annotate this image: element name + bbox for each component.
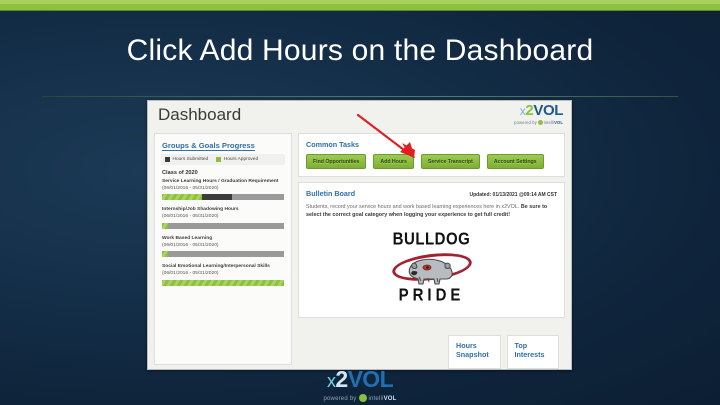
bulldog-mascot-icon bbox=[404, 249, 460, 289]
intellivol-dot-icon bbox=[538, 120, 543, 125]
bulldog-top-word: BULLDOG bbox=[378, 229, 486, 249]
footer-intellivol-dot-icon bbox=[359, 394, 367, 402]
bulletin-body-text: Students, record your service hours and … bbox=[306, 203, 557, 220]
legend-label-approved: Hours Approved bbox=[224, 157, 258, 162]
powered-by-text: powered by bbox=[514, 120, 537, 125]
intelli-text: intelli bbox=[544, 120, 554, 125]
bulletin-text-normal: Students, record your service hours and … bbox=[306, 204, 521, 210]
goal-progress-approved bbox=[162, 251, 168, 257]
dashboard-heading: Dashboard bbox=[158, 105, 241, 125]
bulletin-board-panel: Bulletin Board Updated: 01/13/2021 @09:1… bbox=[298, 182, 565, 318]
goal-progress-approved bbox=[162, 280, 284, 286]
page-title: Click Add Hours on the Dashboard bbox=[0, 34, 720, 68]
goal-progress-approved bbox=[162, 223, 168, 229]
x2vol-wordmark: x2VOL bbox=[514, 103, 563, 118]
powered-by-line: powered byintelliVOL bbox=[514, 120, 563, 125]
x2vol-logo-header: x2VOL powered byintelliVOL bbox=[514, 103, 563, 125]
bulldog-pride-logo: BULLDOG bbox=[378, 227, 486, 307]
dashboard-screenshot: Dashboard x2VOL powered byintelliVOL Gro… bbox=[147, 100, 572, 370]
legend-item-approved: Hours Approved bbox=[216, 157, 258, 162]
footer-intelli-text: intelli bbox=[369, 396, 384, 402]
intelli-vol-text: VOL bbox=[554, 120, 563, 125]
goal-dates: (06/01/2016 - 05/31/2020) bbox=[162, 214, 284, 221]
footer-logo-vol: VOL bbox=[348, 366, 393, 392]
groups-goals-title: Groups & Goals Progress bbox=[155, 134, 291, 154]
top-interests-title: Top Interests bbox=[515, 341, 552, 359]
goal-progress-approved bbox=[162, 194, 202, 200]
account-settings-button[interactable]: Account Settings bbox=[487, 154, 544, 169]
find-opportunities-button[interactable]: Find Opportunities bbox=[306, 154, 366, 169]
hours-snapshot-title: Hours Snapshot bbox=[456, 341, 493, 359]
legend-label-submitted: Hours Submitted bbox=[173, 157, 209, 162]
footer-powered-by-text: powered by bbox=[323, 396, 356, 402]
add-hours-button[interactable]: Add Hours bbox=[373, 154, 414, 169]
goal-item[interactable]: Service Learning Hours / Graduation Requ… bbox=[155, 179, 291, 207]
progress-legend: Hours Submitted Hours Approved bbox=[161, 154, 285, 165]
bottom-panels-row: Hours Snapshot Top Interests bbox=[448, 335, 559, 369]
slide-root: Click Add Hours on the Dashboard Dashboa… bbox=[0, 0, 720, 405]
footer-wordmark: x2VOL bbox=[0, 368, 720, 391]
goal-item[interactable]: Internship/Job Shadowing Hours (06/01/20… bbox=[155, 207, 291, 235]
goal-progress-bar bbox=[162, 223, 284, 229]
logo-vol: VOL bbox=[533, 102, 563, 119]
goal-name: Service Learning Hours / Graduation Requ… bbox=[162, 179, 284, 186]
goal-dates: (06/01/2016 - 05/31/2020) bbox=[162, 271, 284, 278]
service-transcript-button[interactable]: Service Transcript bbox=[421, 154, 480, 169]
bulletin-header: Bulletin Board Updated: 01/13/2021 @09:1… bbox=[306, 189, 557, 198]
bulletin-board-title: Bulletin Board bbox=[306, 189, 355, 198]
main-column: Common Tasks Find Opportunities Add Hour… bbox=[298, 133, 565, 365]
top-interests-panel: Top Interests bbox=[507, 335, 560, 369]
goal-item[interactable]: Social Emotional Learning/Interpersonal … bbox=[155, 264, 291, 292]
x2vol-logo-footer: x2VOL powered byintelliVOL bbox=[0, 368, 720, 402]
legend-swatch-submitted-icon bbox=[165, 157, 170, 162]
hours-snapshot-panel: Hours Snapshot bbox=[448, 335, 501, 369]
app-header: Dashboard x2VOL powered byintelliVOL bbox=[148, 101, 571, 133]
class-label: Class of 2020 bbox=[155, 165, 291, 179]
bulletin-updated-timestamp: Updated: 01/13/2021 @09:14 AM CST bbox=[470, 192, 558, 198]
goal-progress-bar bbox=[162, 251, 284, 257]
legend-item-submitted: Hours Submitted bbox=[165, 157, 208, 162]
goal-item[interactable]: Work Based Learning (06/01/2016 - 05/31/… bbox=[155, 236, 291, 264]
common-tasks-title: Common Tasks bbox=[306, 140, 557, 149]
common-tasks-buttons: Find Opportunities Add Hours Service Tra… bbox=[306, 154, 557, 169]
top-accent-highlight bbox=[0, 0, 720, 4]
groups-goals-panel: Groups & Goals Progress Hours Submitted … bbox=[154, 133, 292, 365]
legend-swatch-approved-icon bbox=[216, 157, 221, 162]
top-accent-bar bbox=[0, 0, 720, 11]
app-body: Groups & Goals Progress Hours Submitted … bbox=[148, 133, 571, 370]
footer-powered-by: powered byintelliVOL bbox=[0, 394, 720, 402]
title-divider bbox=[42, 96, 678, 97]
goal-dates: (06/01/2016 - 05/31/2020) bbox=[162, 243, 284, 250]
common-tasks-panel: Common Tasks Find Opportunities Add Hour… bbox=[298, 133, 565, 177]
bulldog-bottom-word: PRIDE bbox=[378, 285, 486, 305]
footer-intelli-vol-text: VOL bbox=[384, 396, 397, 402]
goal-name: Work Based Learning bbox=[162, 236, 284, 243]
footer-logo-2: 2 bbox=[335, 366, 347, 392]
goal-dates: (06/01/2016 - 05/31/2020) bbox=[162, 186, 284, 193]
goal-progress-bar bbox=[162, 280, 284, 286]
goal-progress-bar bbox=[162, 194, 284, 200]
